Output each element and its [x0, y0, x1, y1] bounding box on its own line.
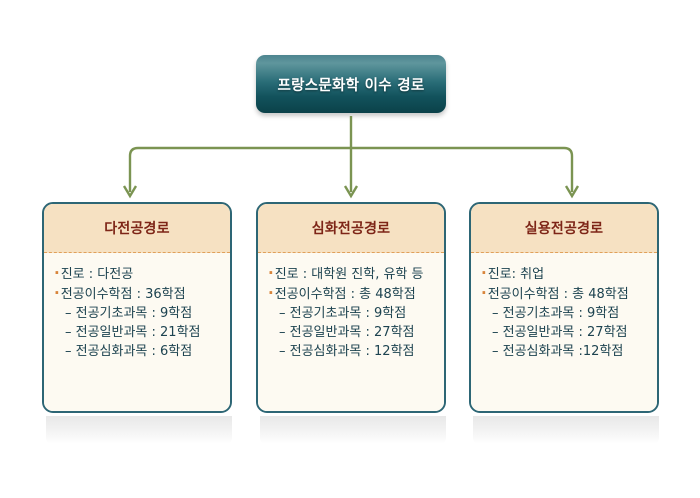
card-line: – 전공심화과목 :12학점 [480, 342, 649, 361]
card-line: – 전공일반과목 : 27학점 [480, 323, 649, 342]
arrowhead-left-icon [124, 186, 136, 196]
card-line: – 전공기초과목 : 9학점 [267, 304, 436, 323]
card-line: – 전공기초과목 : 9학점 [480, 304, 649, 323]
card-line: 진로: 취업 [480, 264, 649, 284]
card-intensive-major[interactable]: 심화전공경로 진로 : 대학원 진학, 유학 등 전공이수학점 : 총 48학점… [256, 202, 446, 413]
card-shadow [473, 416, 659, 444]
card-multi-major[interactable]: 다전공경로 진로 : 다전공 전공이수학점 : 36학점 – 전공기초과목 : … [42, 202, 232, 413]
card-line: – 전공일반과목 : 21학점 [53, 323, 222, 342]
card-title: 심화전공경로 [312, 218, 390, 238]
arrowhead-middle-icon [345, 186, 357, 196]
card-line: – 전공일반과목 : 27학점 [267, 323, 436, 342]
root-node-label: 프랑스문화학 이수 경로 [277, 74, 424, 95]
arrowhead-right-icon [566, 186, 578, 196]
card-practical-major[interactable]: 실용전공경로 진로: 취업 전공이수학점 : 총 48학점 – 전공기초과목 :… [469, 202, 659, 413]
root-node[interactable]: 프랑스문화학 이수 경로 [256, 55, 446, 113]
card-line: – 전공기초과목 : 9학점 [53, 304, 222, 323]
diagram-canvas: 프랑스문화학 이수 경로 다전공경로 진로 : 다전공 전공이수학점 : 36학… [0, 0, 700, 498]
card-body: 진로 : 다전공 전공이수학점 : 36학점 – 전공기초과목 : 9학점 – … [44, 253, 230, 411]
connector-bus [130, 148, 572, 192]
card-line: 전공이수학점 : 36학점 [53, 284, 222, 304]
card-shadow [46, 416, 232, 444]
card-line: 전공이수학점 : 총 48학점 [267, 284, 436, 304]
card-line: – 전공심화과목 : 12학점 [267, 342, 436, 361]
card-body: 진로: 취업 전공이수학점 : 총 48학점 – 전공기초과목 : 9학점 – … [471, 253, 657, 411]
card-title: 다전공경로 [104, 218, 169, 238]
card-shadow [260, 416, 446, 444]
card-header: 다전공경로 [44, 204, 230, 253]
card-body: 진로 : 대학원 진학, 유학 등 전공이수학점 : 총 48학점 – 전공기초… [258, 253, 444, 411]
card-line: 전공이수학점 : 총 48학점 [480, 284, 649, 304]
card-line: 진로 : 대학원 진학, 유학 등 [267, 264, 436, 284]
card-title: 실용전공경로 [525, 218, 603, 238]
card-header: 심화전공경로 [258, 204, 444, 253]
card-line: 진로 : 다전공 [53, 264, 222, 284]
card-line: – 전공심화과목 : 6학점 [53, 342, 222, 361]
card-header: 실용전공경로 [471, 204, 657, 253]
